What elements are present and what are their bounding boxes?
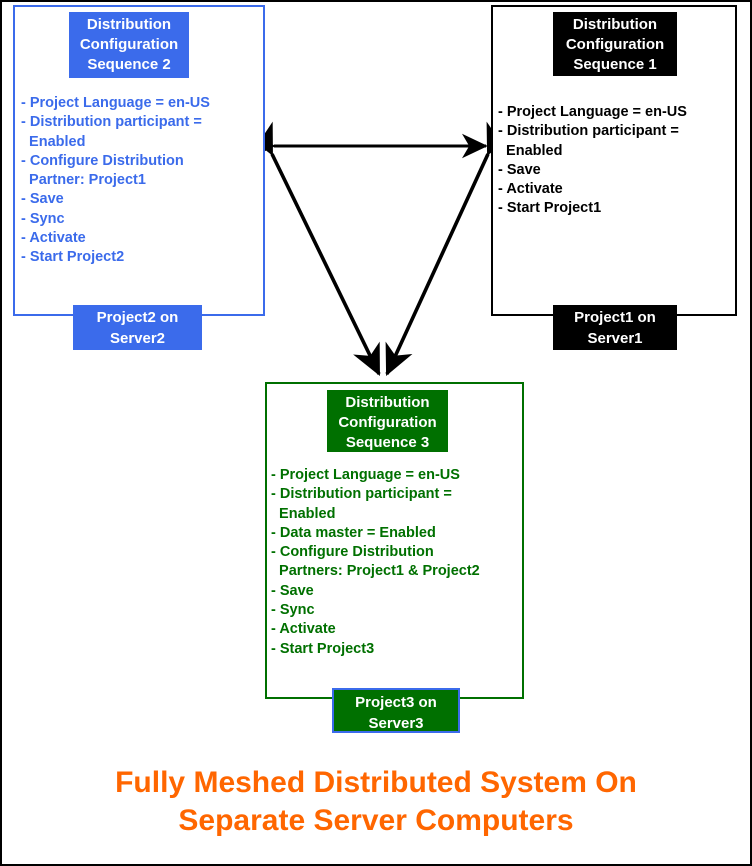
body-line: - Distribution participant = [498,122,734,141]
body-line: - Activate [271,620,521,639]
body-line: - Save [498,161,734,180]
body-line: - Activate [498,180,734,199]
body-line: - Configure Distribution [271,543,521,562]
body-line: Partner: Project1 [21,171,261,190]
footer-line-1: Project3 on [334,692,458,713]
body-line: - Start Project2 [21,248,261,267]
body-line: - Start Project3 [271,640,521,659]
footer-line-2: Server2 [73,328,202,349]
body-line: Enabled [21,133,261,152]
connector-seq1-seq3 [387,154,488,374]
header-line-1: Distribution [69,15,189,35]
node-sequence-2-header: Distribution Configuration Sequence 2 [69,12,189,78]
body-line: Enabled [271,505,521,524]
header-line-2: Configuration [327,413,448,433]
header-line-1: Distribution [553,15,677,35]
node-sequence-3-footer[interactable]: Project3 on Server3 [332,688,460,733]
header-line-3: Sequence 1 [553,55,677,75]
body-line: - Distribution participant = [271,485,521,504]
caption-line-1: Fully Meshed Distributed System On [2,764,750,802]
header-line-2: Configuration [553,35,677,55]
node-sequence-1-header: Distribution Configuration Sequence 1 [553,12,677,76]
body-line: - Save [271,582,521,601]
node-sequence-1-footer[interactable]: Project1 on Server1 [553,305,677,350]
node-sequence-3-header: Distribution Configuration Sequence 3 [327,390,448,452]
body-line: - Project Language = en-US [271,466,521,485]
connector-seq2-seq3 [272,154,379,374]
body-line: Partners: Project1 & Project2 [271,562,521,581]
body-line: - Activate [21,229,261,248]
body-line: - Project Language = en-US [498,103,734,122]
header-line-3: Sequence 2 [69,55,189,75]
body-line: - Sync [271,601,521,620]
footer-line-1: Project2 on [73,307,202,328]
node-sequence-1-body: - Project Language = en-US - Distributio… [498,103,734,219]
caption-line-2: Separate Server Computers [2,802,750,840]
node-sequence-2-footer[interactable]: Project2 on Server2 [73,305,202,350]
diagram-caption: Fully Meshed Distributed System On Separ… [2,764,750,840]
body-line: - Sync [21,210,261,229]
body-line: - Configure Distribution [21,152,261,171]
body-line: Enabled [498,142,734,161]
header-line-1: Distribution [327,393,448,413]
body-line: - Distribution participant = [21,113,261,132]
body-line: - Data master = Enabled [271,524,521,543]
body-line: - Project Language = en-US [21,94,261,113]
body-line: - Start Project1 [498,199,734,218]
body-line: - Save [21,190,261,209]
node-sequence-3-body: - Project Language = en-US - Distributio… [271,466,521,659]
header-line-2: Configuration [69,35,189,55]
footer-line-1: Project1 on [553,307,677,328]
header-line-3: Sequence 3 [327,433,448,453]
footer-line-2: Server1 [553,328,677,349]
node-sequence-2-body: - Project Language = en-US - Distributio… [21,94,261,268]
diagram-canvas: Distribution Configuration Sequence 2 - … [0,0,752,866]
footer-line-2: Server3 [334,713,458,734]
